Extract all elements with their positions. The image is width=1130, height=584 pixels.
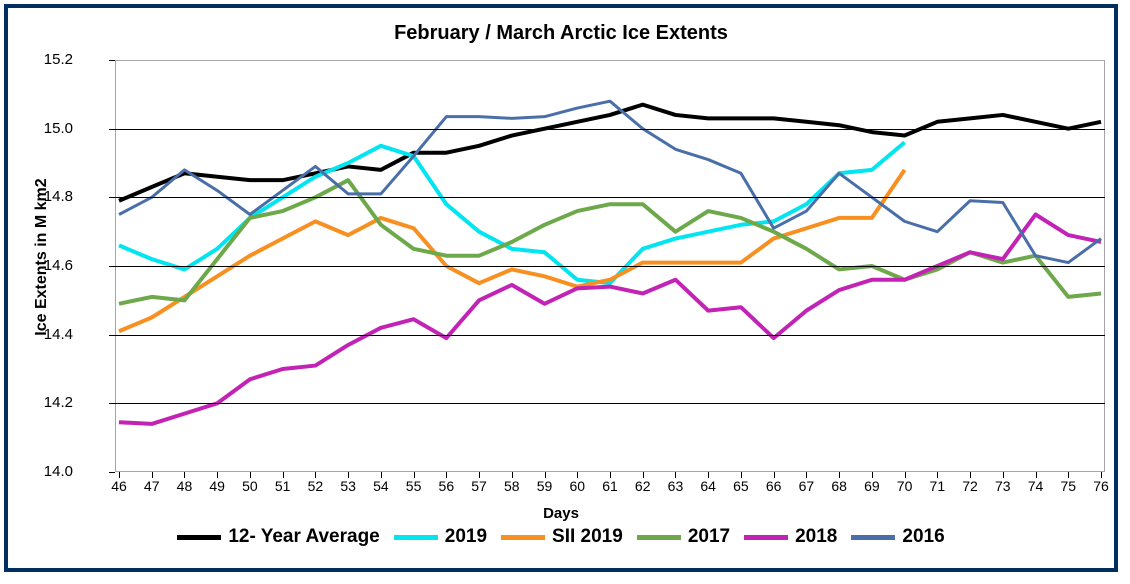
x-tick-label: 76 [1084,478,1118,494]
x-tick-mark [414,472,415,478]
x-tick-label: 56 [429,478,463,494]
y-tick-mark [109,335,115,336]
x-tick-label: 59 [528,478,562,494]
legend-label: 2018 [795,526,837,548]
x-tick-mark [1003,472,1004,478]
x-tick-mark [283,472,284,478]
x-tick-label: 68 [822,478,856,494]
x-tick-label: 70 [888,478,922,494]
x-tick-label: 63 [658,478,692,494]
legend-label: 2017 [688,526,730,548]
gridline [115,266,1105,267]
legend-item[interactable]: 2019 [394,526,487,548]
x-axis-label: Days [8,505,1114,522]
legend-swatch [637,535,681,540]
x-tick-label: 65 [724,478,758,494]
y-tick-label: 15.0 [0,120,73,137]
x-tick-label: 47 [135,478,169,494]
plot-area: 14.014.214.414.614.815.015.2 46474849505… [115,60,1105,472]
x-tick-mark [675,472,676,478]
y-tick-label: 14.2 [0,394,73,411]
y-tick-mark [109,129,115,130]
legend-label: 2016 [902,526,944,548]
y-tick-mark [109,197,115,198]
x-tick-mark [643,472,644,478]
x-tick-label: 69 [855,478,889,494]
x-tick-label: 46 [102,478,136,494]
x-tick-mark [708,472,709,478]
x-tick-mark [348,472,349,478]
x-tick-label: 53 [331,478,365,494]
x-tick-mark [806,472,807,478]
x-tick-mark [839,472,840,478]
x-tick-label: 72 [953,478,987,494]
x-tick-mark [1036,472,1037,478]
y-tick-mark [109,60,115,61]
x-tick-mark [446,472,447,478]
chart-title: February / March Arctic Ice Extents [8,22,1114,45]
legend-swatch [744,535,788,540]
legend-item[interactable]: 2018 [744,526,837,548]
y-tick-mark [109,266,115,267]
x-tick-label: 49 [200,478,234,494]
y-tick-label: 14.6 [0,257,73,274]
legend-label: 12- Year Average [228,526,379,548]
x-tick-mark [217,472,218,478]
x-tick-label: 58 [495,478,529,494]
gridline [115,335,1105,336]
x-tick-label: 54 [364,478,398,494]
x-tick-mark [1101,472,1102,478]
y-tick-label: 15.2 [0,51,73,68]
x-tick-label: 52 [298,478,332,494]
x-tick-mark [1068,472,1069,478]
x-tick-label: 61 [593,478,627,494]
x-tick-label: 67 [789,478,823,494]
x-tick-mark [774,472,775,478]
x-tick-mark [479,472,480,478]
x-tick-label: 48 [167,478,201,494]
legend-item[interactable]: 12- Year Average [177,526,379,548]
x-tick-label: 55 [397,478,431,494]
legend-label: 2019 [445,526,487,548]
x-tick-mark [610,472,611,478]
gridline [115,197,1105,198]
x-tick-label: 66 [757,478,791,494]
legend-item[interactable]: SII 2019 [501,526,623,548]
chart-frame: February / March Arctic Ice Extents Ice … [4,4,1118,572]
x-tick-label: 57 [462,478,496,494]
x-tick-label: 74 [1019,478,1053,494]
x-tick-label: 62 [626,478,660,494]
y-tick-label: 14.4 [0,326,73,343]
legend-swatch [177,535,221,540]
x-tick-label: 51 [266,478,300,494]
x-tick-mark [872,472,873,478]
x-tick-label: 50 [233,478,267,494]
y-tick-label: 14.0 [0,463,73,480]
legend-label: SII 2019 [552,526,623,548]
x-tick-label: 60 [560,478,594,494]
x-tick-mark [741,472,742,478]
x-tick-mark [184,472,185,478]
x-tick-mark [512,472,513,478]
y-tick-label: 14.8 [0,188,73,205]
x-tick-mark [970,472,971,478]
x-tick-mark [577,472,578,478]
x-tick-mark [152,472,153,478]
legend-item[interactable]: 2016 [851,526,944,548]
legend-swatch [394,535,438,540]
legend-swatch [851,535,895,540]
legend-item[interactable]: 2017 [637,526,730,548]
x-tick-mark [250,472,251,478]
x-tick-label: 71 [920,478,954,494]
gridline [115,129,1105,130]
x-tick-label: 64 [691,478,725,494]
x-tick-mark [545,472,546,478]
x-tick-label: 75 [1051,478,1085,494]
gridline [115,403,1105,404]
x-tick-label: 73 [986,478,1020,494]
legend-swatch [501,535,545,540]
y-tick-mark [109,472,115,473]
y-tick-mark [109,403,115,404]
x-tick-mark [119,472,120,478]
series-line [119,105,1101,201]
x-tick-mark [315,472,316,478]
x-tick-mark [937,472,938,478]
x-tick-mark [905,472,906,478]
legend: 12- Year Average2019SII 2019201720182016 [8,526,1114,548]
x-tick-mark [381,472,382,478]
